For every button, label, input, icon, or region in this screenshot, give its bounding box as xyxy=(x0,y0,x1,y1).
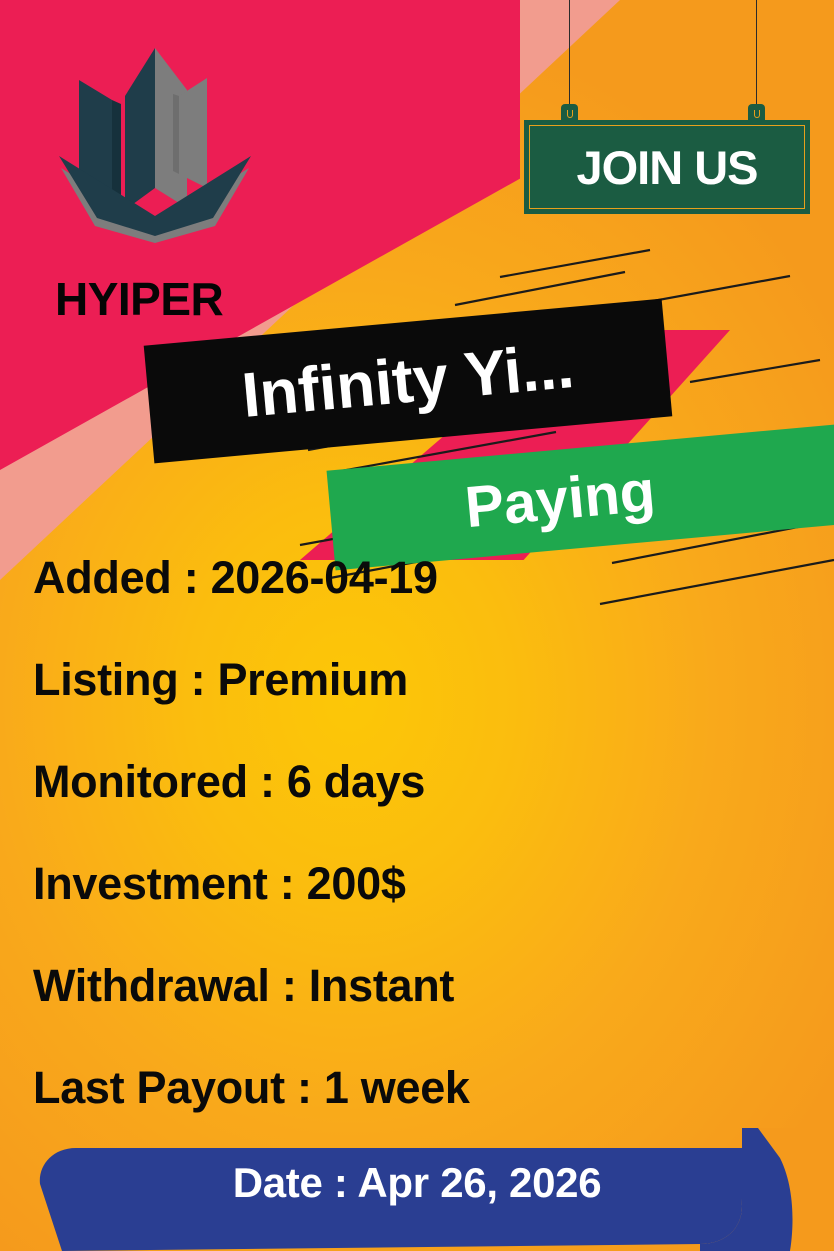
program-title: Infinity Yi... xyxy=(240,335,577,428)
brand-name: HYIPER xyxy=(55,276,223,322)
date-footer-bar: Date : Apr 26, 2026 xyxy=(0,1128,834,1251)
status-label: Paying xyxy=(463,462,658,537)
join-us-label: JOIN US xyxy=(576,144,757,191)
detail-row-withdrawal: Withdrawal : Instant xyxy=(33,963,803,1008)
building-chevron-logo-icon xyxy=(55,38,255,243)
detail-row-investment: Investment : 200$ xyxy=(33,861,803,906)
details-list: Added : 2026-04-19 Listing : Premium Mon… xyxy=(33,555,803,1167)
detail-row-added: Added : 2026-04-19 xyxy=(33,555,803,600)
detail-row-monitored: Monitored : 6 days xyxy=(33,759,803,804)
sign-string-right xyxy=(756,0,757,110)
detail-row-last-payout: Last Payout : 1 week xyxy=(33,1065,803,1110)
date-text: Date : Apr 26, 2026 xyxy=(0,1162,834,1204)
join-us-sign[interactable]: JOIN US xyxy=(524,0,814,215)
hyip-listing-card: HYIPER JOIN US Infinity Yi... Paying Add… xyxy=(0,0,834,1251)
sign-string-left xyxy=(569,0,570,110)
join-us-board[interactable]: JOIN US xyxy=(524,120,810,214)
detail-row-listing: Listing : Premium xyxy=(33,657,803,702)
